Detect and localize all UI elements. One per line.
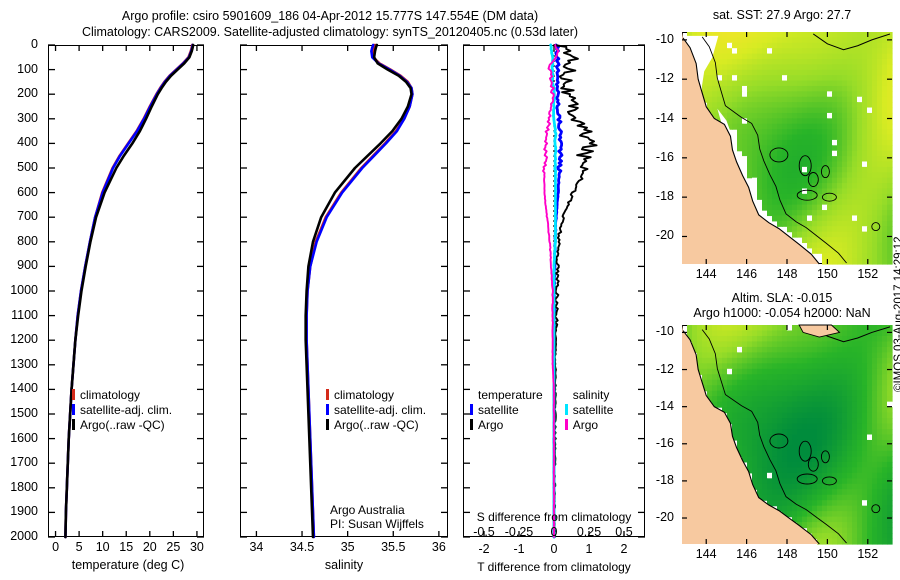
difference-legend: temperaturesatelliteArgosalinitysatellit… [470, 388, 645, 433]
sla-map-area [682, 325, 892, 544]
legend-color-swatch [326, 404, 329, 415]
longitude-tick-label: 152 [848, 267, 888, 281]
sst-map-y-ticks: -10-12-14-16-18-20 [650, 32, 678, 264]
salinity-footer-program: Argo Australia [330, 503, 405, 517]
salinity-legend: climatologysatellite-adj. clim.Argo(..ra… [326, 388, 426, 433]
legend-label: satellite-adj. clim. [334, 403, 426, 417]
difference-t-axis-label: T difference from climatology [455, 560, 653, 574]
latitude-tick-label: -12 [656, 71, 674, 85]
depth-tick-label: 0 [31, 37, 38, 51]
depth-tick-label: 1100 [11, 308, 38, 322]
depth-tick-label: 300 [17, 111, 38, 125]
sla-map-y-ticks: -10-12-14-16-18-20 [650, 325, 678, 544]
depth-tick-label: 100 [17, 62, 38, 76]
difference-legend-item: satellite [565, 403, 614, 418]
sdiff-tick-label: 0.5 [600, 525, 648, 539]
longitude-tick-label: 144 [686, 547, 726, 561]
depth-tick-label: 1400 [10, 381, 38, 395]
latitude-tick-label: -10 [656, 32, 674, 46]
difference-s-axis-label: S difference from climatology [463, 510, 645, 524]
salinity-x-axis-label: salinity [294, 558, 394, 572]
legend-label: Argo [573, 418, 598, 432]
depth-tick-label: 800 [17, 234, 38, 248]
plot-title-line2: Climatology: CARS2009. Satellite-adjuste… [0, 25, 660, 39]
temperature-legend: climatologysatellite-adj. clim.Argo(..ra… [72, 388, 172, 433]
legend-color-swatch [470, 419, 473, 430]
salinity-plot-area [240, 45, 448, 537]
legend-label: Argo(..raw -QC) [80, 418, 165, 432]
legend-label: Argo(..raw -QC) [334, 418, 419, 432]
salinity-tick-label: 34.5 [278, 540, 326, 554]
sla-map-title-line1: Altim. SLA: -0.015 [668, 291, 896, 305]
difference-plot-area [463, 45, 645, 537]
legend-color-swatch [326, 389, 329, 400]
imos-credit: ©IMOS 03-Aug-2017 14:29:12 [893, 236, 900, 392]
temperature-tick-label: 30 [173, 540, 221, 554]
temperature-legend-item: satellite-adj. clim. [72, 403, 172, 418]
legend-color-swatch [72, 419, 75, 430]
legend-color-swatch [72, 389, 75, 400]
latitude-tick-label: -12 [656, 362, 674, 376]
difference-legend-group: temperaturesatelliteArgo [470, 388, 543, 433]
legend-label: climatology [80, 388, 140, 402]
legend-color-swatch [565, 404, 568, 415]
salinity-legend-item: Argo(..raw -QC) [326, 418, 426, 433]
longitude-tick-label: 146 [727, 547, 767, 561]
longitude-tick-label: 144 [686, 267, 726, 281]
legend-color-swatch [565, 419, 568, 430]
difference-legend-item: satellite [470, 403, 543, 418]
depth-tick-label: 900 [17, 258, 38, 272]
difference-legend-group: salinitysatelliteArgo [565, 388, 614, 433]
temperature-legend-item: climatology [72, 388, 172, 403]
legend-label: satellite-adj. clim. [80, 403, 172, 417]
temperature-y-ticks: 0100200300400500600700800900100011001200… [0, 45, 44, 537]
salinity-legend-item: climatology [326, 388, 426, 403]
depth-tick-label: 1800 [10, 480, 38, 494]
latitude-tick-label: -18 [656, 473, 674, 487]
legend-label: climatology [334, 388, 394, 402]
plot-title-line1: Argo profile: csiro 5901609_186 04-Apr-2… [0, 9, 660, 23]
legend-label: Argo [478, 418, 503, 432]
depth-tick-label: 1000 [10, 283, 38, 297]
longitude-tick-label: 150 [807, 267, 847, 281]
depth-tick-label: 1200 [10, 332, 38, 346]
legend-color-swatch [470, 404, 473, 415]
latitude-tick-label: -10 [656, 324, 674, 338]
salinity-tick-label: 35.5 [369, 540, 417, 554]
latitude-tick-label: -14 [656, 399, 674, 413]
salinity-tick-label: 34 [232, 540, 280, 554]
depth-tick-label: 500 [17, 160, 38, 174]
difference-legend-title: salinity [565, 388, 614, 403]
longitude-tick-label: 148 [767, 547, 807, 561]
latitude-tick-label: -20 [656, 510, 674, 524]
depth-tick-label: 1300 [10, 357, 38, 371]
salinity-legend-item: satellite-adj. clim. [326, 403, 426, 418]
difference-legend-item: Argo [470, 418, 543, 433]
latitude-tick-label: -20 [656, 228, 674, 242]
latitude-tick-label: -14 [656, 111, 674, 125]
difference-legend-title: temperature [470, 388, 543, 403]
temperature-legend-item: Argo(..raw -QC) [72, 418, 172, 433]
legend-label: satellite [573, 403, 614, 417]
longitude-tick-label: 146 [727, 267, 767, 281]
salinity-tick-label: 35 [324, 540, 372, 554]
sla-map-title-line2: Argo h1000: -0.054 h2000: NaN [660, 306, 900, 320]
depth-tick-label: 1700 [10, 455, 38, 469]
depth-tick-label: 700 [17, 209, 38, 223]
difference-legend-item: Argo [565, 418, 614, 433]
temperature-plot-area [48, 45, 204, 537]
salinity-tick-label: 36 [415, 540, 463, 554]
longitude-tick-label: 148 [767, 267, 807, 281]
latitude-tick-label: -16 [656, 436, 674, 450]
depth-tick-label: 1500 [10, 406, 38, 420]
legend-color-swatch [326, 419, 329, 430]
depth-tick-label: 1900 [10, 504, 38, 518]
depth-tick-label: 600 [17, 185, 38, 199]
depth-tick-label: 200 [17, 86, 38, 100]
legend-label: satellite [478, 403, 519, 417]
latitude-tick-label: -18 [656, 189, 674, 203]
salinity-footer-pi: PI: Susan Wijffels [330, 517, 424, 531]
legend-color-swatch [72, 404, 75, 415]
temperature-x-axis-label: temperature (deg C) [38, 558, 218, 572]
sst-map-area [682, 32, 892, 264]
longitude-tick-label: 152 [848, 547, 888, 561]
depth-tick-label: 1600 [10, 431, 38, 445]
sst-map-title: sat. SST: 27.9 Argo: 27.7 [668, 8, 896, 22]
tdiff-tick-label: 2 [600, 542, 648, 556]
longitude-tick-label: 150 [807, 547, 847, 561]
depth-tick-label: 400 [17, 135, 38, 149]
latitude-tick-label: -16 [656, 150, 674, 164]
